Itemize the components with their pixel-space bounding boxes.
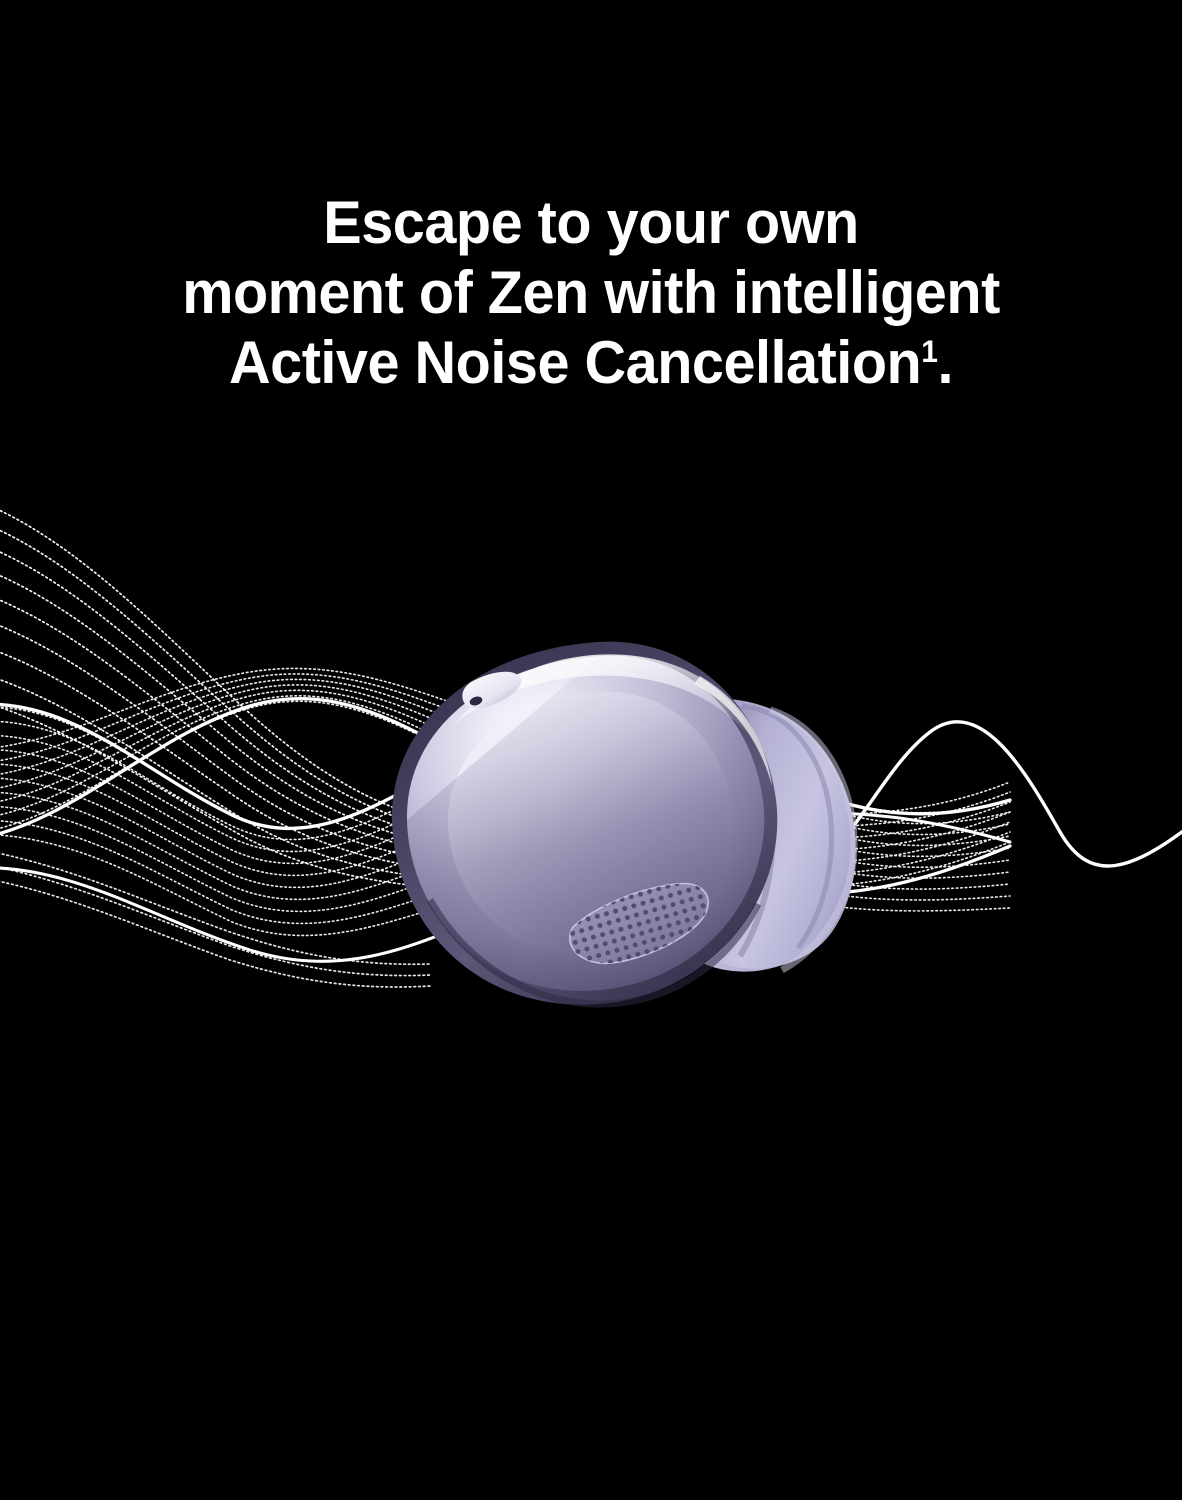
headline-line-3-text: Active Noise Cancellation [229, 329, 921, 396]
headline-line-2: moment of Zen with intelligent [24, 258, 1159, 328]
footnote-marker: 1 [921, 334, 937, 369]
product-artwork [0, 470, 1182, 1070]
product-banner: Escape to your own moment of Zen with in… [0, 0, 1182, 1500]
headline-line-3: Active Noise Cancellation1. [24, 328, 1159, 398]
page-title: Escape to your own moment of Zen with in… [24, 188, 1159, 398]
headline-line-3-period: . [937, 329, 953, 396]
headline-line-1: Escape to your own [24, 188, 1159, 258]
